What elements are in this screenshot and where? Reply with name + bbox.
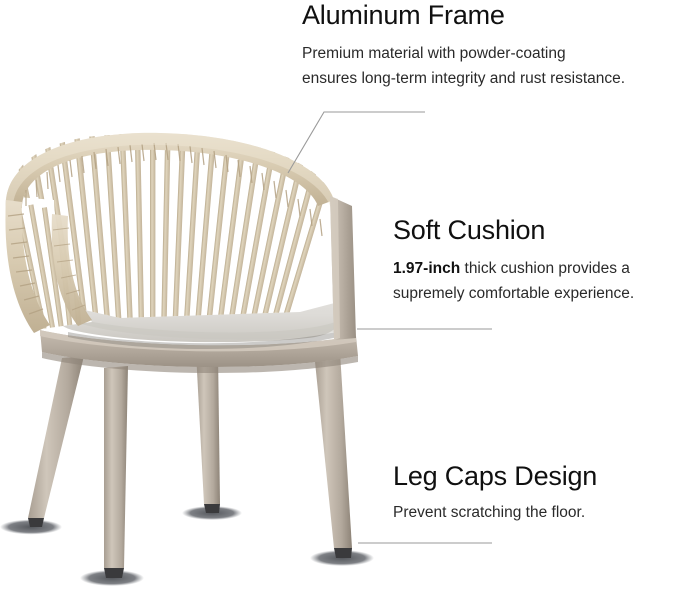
- callout-heading-aluminum-frame: Aluminum Frame: [302, 1, 625, 30]
- callout-body-line-1: 1.97-inch thick cushion provides a: [393, 256, 634, 281]
- callout-body-line-2: ensures long-term integrity and rust res…: [302, 66, 625, 91]
- infographic-canvas: Aluminum Frame Premium material with pow…: [0, 0, 679, 590]
- leader-line-aluminum-frame: [288, 112, 425, 173]
- callout-body-line-1: Prevent scratching the floor.: [393, 500, 597, 525]
- callout-body-line-1: Premium material with powder-coating: [302, 41, 625, 66]
- callout-leg-caps-design: Leg Caps Design Prevent scratching the f…: [393, 462, 597, 525]
- cushion-thickness-value: 1.97-inch: [393, 260, 460, 277]
- callout-heading-leg-caps-design: Leg Caps Design: [393, 462, 597, 491]
- callout-aluminum-frame: Aluminum Frame Premium material with pow…: [302, 1, 625, 91]
- floor-shadows: [0, 506, 374, 586]
- callout-body-leg-caps-design: Prevent scratching the floor.: [393, 500, 597, 525]
- callout-heading-soft-cushion: Soft Cushion: [393, 216, 634, 245]
- callout-body-soft-cushion: 1.97-inch thick cushion provides a supre…: [393, 256, 634, 306]
- callout-body-aluminum-frame: Premium material with powder-coating ens…: [302, 41, 625, 91]
- cushion-thickness-rest: thick cushion provides a: [460, 260, 630, 277]
- right-frame-post: [330, 196, 356, 340]
- chair-legs: [28, 352, 352, 578]
- callout-soft-cushion: Soft Cushion 1.97-inch thick cushion pro…: [393, 216, 634, 306]
- callout-body-line-2: supremely comfortable experience.: [393, 281, 634, 306]
